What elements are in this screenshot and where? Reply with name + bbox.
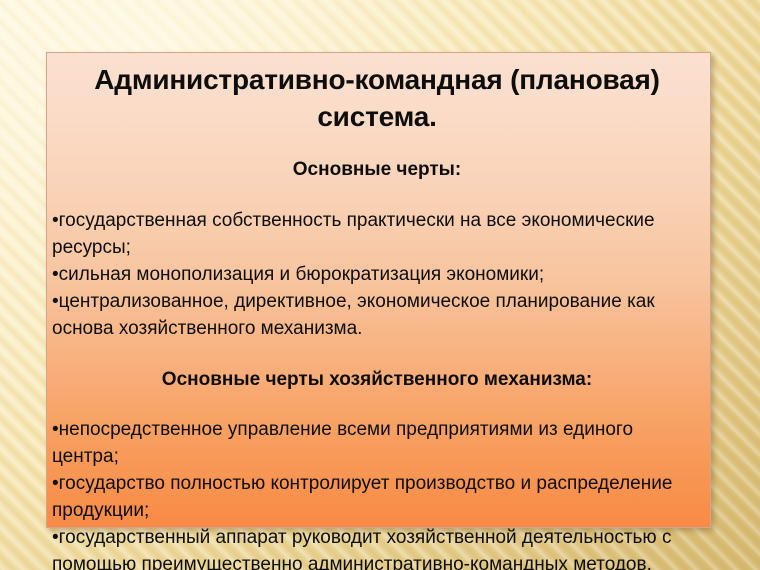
list-item-text: непосредственное управление всеми предпр… <box>52 419 633 467</box>
list-item-text: государственная собственность практическ… <box>52 210 655 258</box>
list-item: •сильная монополизация и бюрократизация … <box>52 261 702 288</box>
bullet-marker: • <box>52 291 59 312</box>
bullet-marker: • <box>52 473 59 494</box>
list-item: •непосредственное управление всеми предп… <box>52 416 702 470</box>
section-heading-features: Основные черты: <box>52 158 702 183</box>
list-item-text: государственный аппарат руководит хозяйс… <box>52 527 671 570</box>
list-item: •централизованное, директивное, экономич… <box>52 288 702 342</box>
bullet-list-mechanism: •непосредственное управление всеми предп… <box>52 416 702 570</box>
list-item-text: сильная монополизация и бюрократизация э… <box>59 264 544 285</box>
bullet-list-features: •государственная собственность практичес… <box>52 207 702 342</box>
list-item-text: государство полностью контролирует произ… <box>52 473 672 521</box>
list-item-text: централизованное, директивное, экономиче… <box>52 291 655 339</box>
list-item: •государство полностью контролирует прои… <box>52 470 702 524</box>
section-heading-mechanism: Основные черты хозяйственного механизма: <box>52 368 702 393</box>
slide: Административно-командная (плановая) сис… <box>0 0 760 570</box>
page-title: Административно-командная (плановая) сис… <box>52 62 702 136</box>
slide-text-layer: Административно-командная (плановая) сис… <box>46 52 711 570</box>
bullet-marker: • <box>52 527 59 548</box>
list-item: •государственный аппарат руководит хозяй… <box>52 524 702 570</box>
list-item: •государственная собственность практичес… <box>52 207 702 261</box>
bullet-marker: • <box>52 419 59 440</box>
bullet-marker: • <box>52 210 59 231</box>
bullet-marker: • <box>52 264 59 285</box>
